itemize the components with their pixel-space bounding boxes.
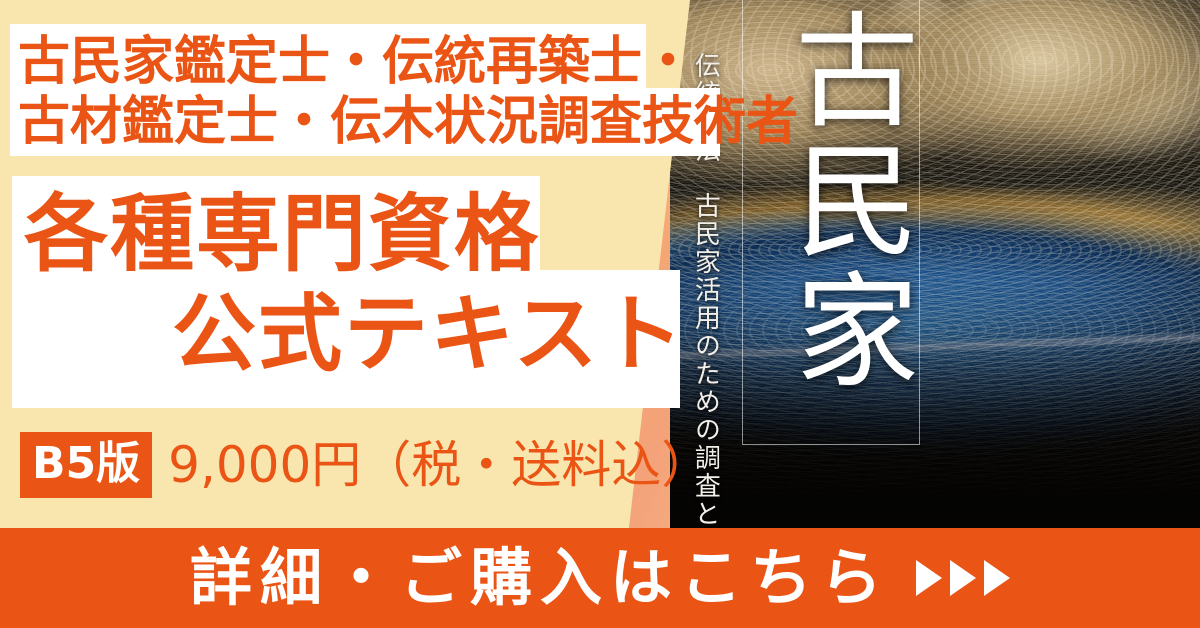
format-badge: B5版 <box>20 432 152 498</box>
cta-button[interactable]: 詳細・ご購入はこちら <box>0 528 1200 628</box>
title-card-lower <box>12 270 680 408</box>
triangle-right-icon <box>984 560 1010 596</box>
promo-banner: 古民家 伝統構法 古民家活用のための調査と再生の 古民家鑑定士・伝統再築士・ 古… <box>0 0 1200 628</box>
price-amount: 9,000円（税・送料込） <box>168 440 711 490</box>
headline-card-lower <box>10 88 720 156</box>
cover-title-text: 古民家 <box>748 6 912 396</box>
triangle-right-icon <box>916 560 942 596</box>
book-cover-image: 古民家 伝統構法 古民家活用のための調査と再生の <box>670 0 1200 536</box>
price-row: B5版 9,000円（税・送料込） <box>20 432 711 498</box>
triangle-right-icon <box>950 560 976 596</box>
cta-arrows <box>916 560 1010 596</box>
cta-label: 詳細・ご購入はこちら <box>190 547 890 609</box>
